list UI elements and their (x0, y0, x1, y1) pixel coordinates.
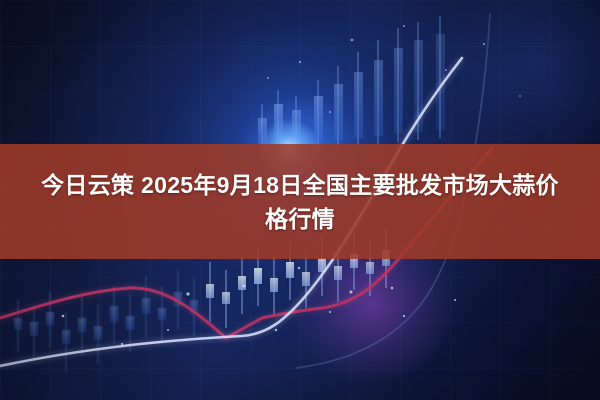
article-title-text: 今日云策 2025年9月18日全国主要批发市场大蒜价格行情 (30, 168, 570, 236)
article-title-banner: 今日云策 2025年9月18日全国主要批发市场大蒜价格行情 (0, 144, 600, 259)
stock-chart-banner-image: 今日云策 2025年9月18日全国主要批发市场大蒜价格行情 (0, 0, 600, 400)
